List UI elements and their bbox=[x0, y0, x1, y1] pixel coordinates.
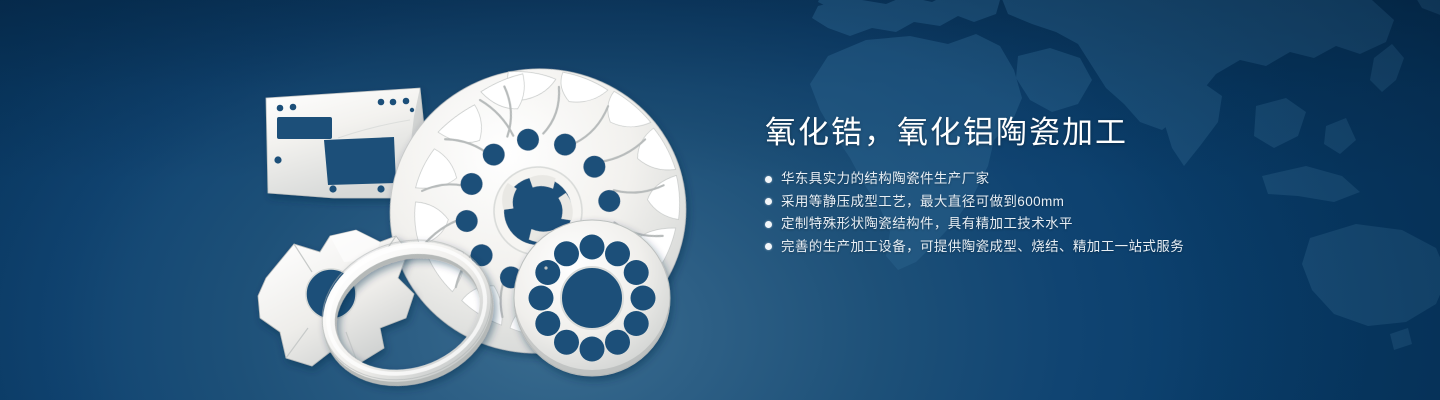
feature-text: 定制特殊形状陶瓷结构件，具有精加工技术水平 bbox=[781, 214, 1073, 234]
ceramic-processing-banner: 氧化锆，氧化铝陶瓷加工 华东具实力的结构陶瓷件生产厂家 采用等静压成型工艺，最大… bbox=[0, 0, 1440, 400]
feature-text: 完善的生产加工设备，可提供陶瓷成型、烧结、精加工一站式服务 bbox=[781, 237, 1184, 257]
banner-feature-list: 华东具实力的结构陶瓷件生产厂家 采用等静压成型工艺，最大直径可做到600mm 定… bbox=[765, 168, 1385, 258]
product-ceramic-perforated-disc bbox=[514, 220, 670, 376]
feature-item: 华东具实力的结构陶瓷件生产厂家 bbox=[765, 168, 1385, 190]
banner-text-column: 氧化锆，氧化铝陶瓷加工 华东具实力的结构陶瓷件生产厂家 采用等静压成型工艺，最大… bbox=[765, 112, 1385, 258]
feature-text: 华东具实力的结构陶瓷件生产厂家 bbox=[781, 169, 990, 189]
bullet-dot-icon bbox=[765, 243, 772, 250]
bullet-dot-icon bbox=[765, 176, 772, 183]
bullet-dot-icon bbox=[765, 221, 772, 228]
ceramic-products-image bbox=[238, 46, 688, 376]
bullet-dot-icon bbox=[765, 198, 772, 205]
feature-text: 采用等静压成型工艺，最大直径可做到600mm bbox=[781, 192, 1064, 212]
feature-item: 采用等静压成型工艺，最大直径可做到600mm bbox=[765, 191, 1385, 213]
feature-item: 完善的生产加工设备，可提供陶瓷成型、烧结、精加工一站式服务 bbox=[765, 236, 1385, 258]
feature-item: 定制特殊形状陶瓷结构件，具有精加工技术水平 bbox=[765, 213, 1385, 235]
banner-headline: 氧化锆，氧化铝陶瓷加工 bbox=[765, 112, 1385, 154]
